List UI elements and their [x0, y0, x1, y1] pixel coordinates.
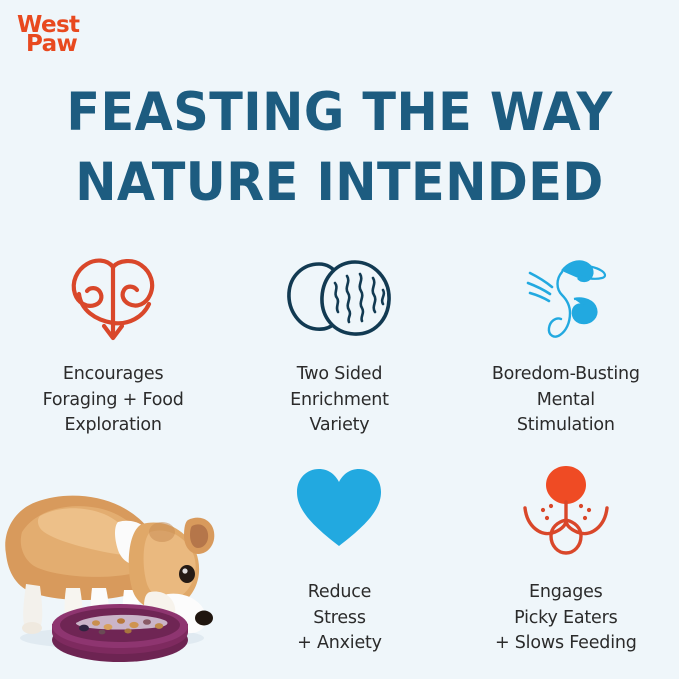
corgi-eating-photo	[0, 462, 244, 662]
feature-item-foraging: Encourages Foraging + Food Exploration	[0, 252, 226, 452]
feature-caption: Two Sided Enrichment Variety	[290, 362, 389, 439]
sniffing-nose-trail-icon	[63, 252, 163, 348]
feature-item-picky-eaters: Engages Picky Eaters + Slows Feeding	[453, 452, 679, 679]
two-sided-mat-icon	[283, 252, 395, 348]
leaping-dog-icon	[518, 252, 614, 348]
feature-item-two-sided: Two Sided Enrichment Variety	[226, 252, 452, 452]
feature-item-reduce-stress: Reduce Stress + Anxiety	[226, 452, 452, 679]
feature-caption: Boredom-Busting Mental Stimulation	[492, 362, 640, 439]
feature-grid: Encourages Foraging + Food Exploration	[0, 252, 679, 679]
page-title: FEASTING THE WAY NATURE INTENDED	[0, 78, 679, 218]
west-paw-logo: West Paw	[17, 16, 109, 55]
feature-item-boredom-busting: Boredom-Busting Mental Stimulation	[453, 252, 679, 452]
feature-caption: Encourages Foraging + Food Exploration	[43, 362, 184, 439]
headline-line-1: FEASTING THE WAY	[24, 78, 655, 148]
infographic-page: West Paw FEASTING THE WAY NATURE INTENDE…	[0, 0, 679, 679]
feature-caption: Engages Picky Eaters + Slows Feeding	[495, 580, 637, 657]
headline-line-2: NATURE INTENDED	[24, 148, 655, 218]
dog-muzzle-icon	[517, 452, 615, 564]
feature-item-product-photo	[0, 452, 226, 679]
heart-icon	[293, 452, 385, 564]
feature-caption: Reduce Stress + Anxiety	[297, 580, 382, 657]
logo-line-paw: Paw	[17, 35, 109, 54]
